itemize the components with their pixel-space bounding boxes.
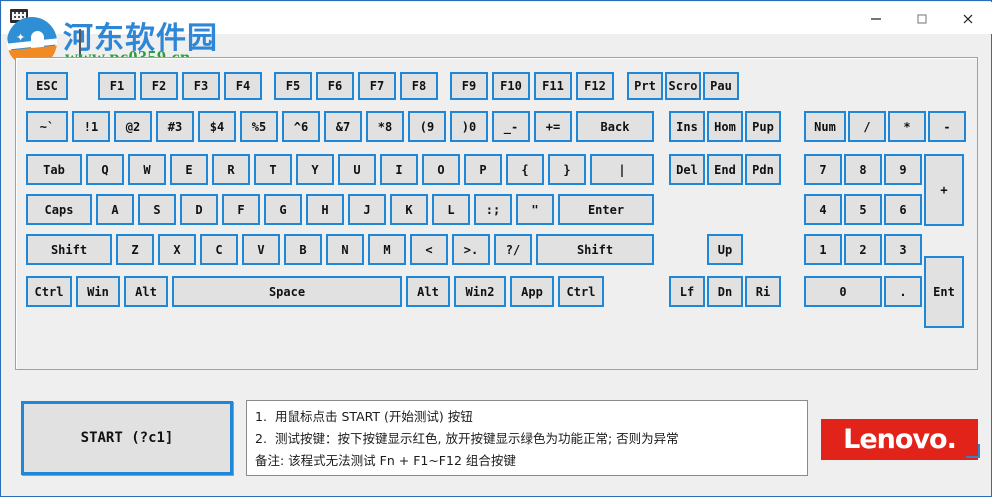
key-b[interactable]: B xyxy=(284,234,322,265)
key-f1[interactable]: F1 xyxy=(98,72,136,100)
key-ctrl[interactable]: Ctrl xyxy=(26,276,72,307)
key-f4[interactable]: F4 xyxy=(224,72,262,100)
key-0[interactable]: )0 xyxy=(450,111,488,142)
key-app[interactable]: App xyxy=(510,276,554,307)
key-lf[interactable]: Lf xyxy=(669,276,705,307)
key-f11[interactable]: F11 xyxy=(534,72,572,100)
instruction-number: 1. xyxy=(255,406,275,428)
key-3[interactable]: #3 xyxy=(156,111,194,142)
key-pup[interactable]: Pup xyxy=(745,111,781,142)
key-[interactable]: ~` xyxy=(26,111,68,142)
key-f3[interactable]: F3 xyxy=(182,72,220,100)
key-[interactable]: ?/ xyxy=(494,234,532,265)
key-f6[interactable]: F6 xyxy=(316,72,354,100)
key-r[interactable]: R xyxy=(212,154,250,185)
key-shift[interactable]: Shift xyxy=(536,234,654,265)
key-dn[interactable]: Dn xyxy=(707,276,743,307)
key-[interactable]: | xyxy=(590,154,654,185)
key-[interactable]: . xyxy=(884,276,922,307)
key-[interactable]: + xyxy=(924,154,964,226)
key-8[interactable]: 8 xyxy=(844,154,882,185)
key-prt[interactable]: Prt xyxy=(627,72,663,100)
key-1[interactable]: 1 xyxy=(804,234,842,265)
instruction-text: 用鼠标点击 START (开始测试) 按钮 xyxy=(275,409,473,424)
key-k[interactable]: K xyxy=(390,194,428,225)
key-j[interactable]: J xyxy=(348,194,386,225)
key-i[interactable]: I xyxy=(380,154,418,185)
key-7[interactable]: 7 xyxy=(804,154,842,185)
key-[interactable]: >. xyxy=(452,234,490,265)
resize-grip-icon[interactable] xyxy=(966,444,980,458)
key-alt[interactable]: Alt xyxy=(124,276,168,307)
key-[interactable]: :; xyxy=(474,194,512,225)
key-s[interactable]: S xyxy=(138,194,176,225)
key-6[interactable]: ^6 xyxy=(282,111,320,142)
key-f9[interactable]: F9 xyxy=(450,72,488,100)
key-[interactable]: { xyxy=(506,154,544,185)
key-ent[interactable]: Ent xyxy=(924,256,964,328)
key-pau[interactable]: Pau xyxy=(703,72,739,100)
key-5[interactable]: %5 xyxy=(240,111,278,142)
key-g[interactable]: G xyxy=(264,194,302,225)
logo-band-white xyxy=(7,38,57,50)
key-shift[interactable]: Shift xyxy=(26,234,112,265)
key-a[interactable]: A xyxy=(96,194,134,225)
instruction-number: 2. xyxy=(255,428,275,450)
keyboard-icon xyxy=(10,9,28,23)
key-scro[interactable]: Scro xyxy=(665,72,701,100)
key-[interactable]: < xyxy=(410,234,448,265)
arch-shape xyxy=(31,31,44,53)
instructions-panel: 1.用鼠标点击 START (开始测试) 按钮 2.测试按键：按下按键显示红色,… xyxy=(246,400,808,476)
key-u[interactable]: U xyxy=(338,154,376,185)
key-e[interactable]: E xyxy=(170,154,208,185)
keyboard-test-window: ✦ 河东软件园 www.pc0359.cn ESCF1F2F3F4F5F6F7F… xyxy=(0,0,992,497)
key-f5[interactable]: F5 xyxy=(274,72,312,100)
key-tab[interactable]: Tab xyxy=(26,154,82,185)
key-[interactable]: } xyxy=(548,154,586,185)
key-z[interactable]: Z xyxy=(116,234,154,265)
key-h[interactable]: H xyxy=(306,194,344,225)
key-q[interactable]: Q xyxy=(86,154,124,185)
key-2[interactable]: 2 xyxy=(844,234,882,265)
key-l[interactable]: L xyxy=(432,194,470,225)
key-enter[interactable]: Enter xyxy=(558,194,654,225)
key-f10[interactable]: F10 xyxy=(492,72,530,100)
key-w[interactable]: W xyxy=(128,154,166,185)
key-7[interactable]: &7 xyxy=(324,111,362,142)
instruction-line: 2.测试按键：按下按键显示红色, 放开按键显示绿色为功能正常; 否则为异常 xyxy=(255,428,799,450)
key-f7[interactable]: F7 xyxy=(358,72,396,100)
key-c[interactable]: C xyxy=(200,234,238,265)
key-win[interactable]: Win xyxy=(76,276,120,307)
key-f[interactable]: F xyxy=(222,194,260,225)
key-9[interactable]: 9 xyxy=(884,154,922,185)
key-up[interactable]: Up xyxy=(707,234,743,265)
key-[interactable]: - xyxy=(928,111,966,142)
key-hom[interactable]: Hom xyxy=(707,111,743,142)
key-x[interactable]: X xyxy=(158,234,196,265)
title-bar xyxy=(2,2,992,34)
keyboard-panel: ESCF1F2F3F4F5F6F7F8F9F10F11F12PrtScroPau… xyxy=(15,57,978,370)
key-ri[interactable]: Ri xyxy=(745,276,781,307)
key-esc[interactable]: ESC xyxy=(26,72,68,100)
instruction-note-text: 备注: 该程式无法测试 Fn + F1~F12 组合按键 xyxy=(255,453,516,468)
key-9[interactable]: (9 xyxy=(408,111,446,142)
key-y[interactable]: Y xyxy=(296,154,334,185)
key-3[interactable]: 3 xyxy=(884,234,922,265)
key-caps[interactable]: Caps xyxy=(26,194,92,225)
key-alt[interactable]: Alt xyxy=(406,276,450,307)
instruction-text: 测试按键：按下按键显示红色, 放开按键显示绿色为功能正常; 否则为异常 xyxy=(275,431,679,446)
key-4[interactable]: $4 xyxy=(198,111,236,142)
key-n[interactable]: N xyxy=(326,234,364,265)
instruction-note: 备注: 该程式无法测试 Fn + F1~F12 组合按键 xyxy=(255,450,799,472)
key-5[interactable]: 5 xyxy=(844,194,882,225)
key-2[interactable]: @2 xyxy=(114,111,152,142)
key-space[interactable]: Space xyxy=(172,276,402,307)
key-back[interactable]: Back xyxy=(576,111,654,142)
key-4[interactable]: 4 xyxy=(804,194,842,225)
key-8[interactable]: *8 xyxy=(366,111,404,142)
key-f8[interactable]: F8 xyxy=(400,72,438,100)
key-1[interactable]: !1 xyxy=(72,111,110,142)
key-f2[interactable]: F2 xyxy=(140,72,178,100)
lenovo-logo: Lenovo. xyxy=(821,419,978,460)
key-t[interactable]: T xyxy=(254,154,292,185)
key-del[interactable]: Del xyxy=(669,154,705,185)
start-test-button[interactable]: START (?c1] xyxy=(21,401,233,475)
minimize-button[interactable] xyxy=(853,3,899,34)
key-ins[interactable]: Ins xyxy=(669,111,705,142)
key-[interactable]: += xyxy=(534,111,572,142)
instruction-line: 1.用鼠标点击 START (开始测试) 按钮 xyxy=(255,406,799,428)
maximize-button[interactable] xyxy=(899,3,945,34)
key-f12[interactable]: F12 xyxy=(576,72,614,100)
key-[interactable]: " xyxy=(516,194,554,225)
key-d[interactable]: D xyxy=(180,194,218,225)
key-[interactable]: * xyxy=(888,111,926,142)
key-num[interactable]: Num xyxy=(804,111,846,142)
key-p[interactable]: P xyxy=(464,154,502,185)
key-pdn[interactable]: Pdn xyxy=(745,154,781,185)
key-end[interactable]: End xyxy=(707,154,743,185)
key-[interactable]: _- xyxy=(492,111,530,142)
lenovo-logo-text: Lenovo. xyxy=(843,424,956,455)
key-0[interactable]: 0 xyxy=(804,276,882,307)
key-o[interactable]: O xyxy=(422,154,460,185)
key-v[interactable]: V xyxy=(242,234,280,265)
key-m[interactable]: M xyxy=(368,234,406,265)
key-ctrl[interactable]: Ctrl xyxy=(558,276,604,307)
key-[interactable]: / xyxy=(848,111,886,142)
key-win2[interactable]: Win2 xyxy=(454,276,506,307)
key-6[interactable]: 6 xyxy=(884,194,922,225)
close-button[interactable] xyxy=(945,3,991,34)
